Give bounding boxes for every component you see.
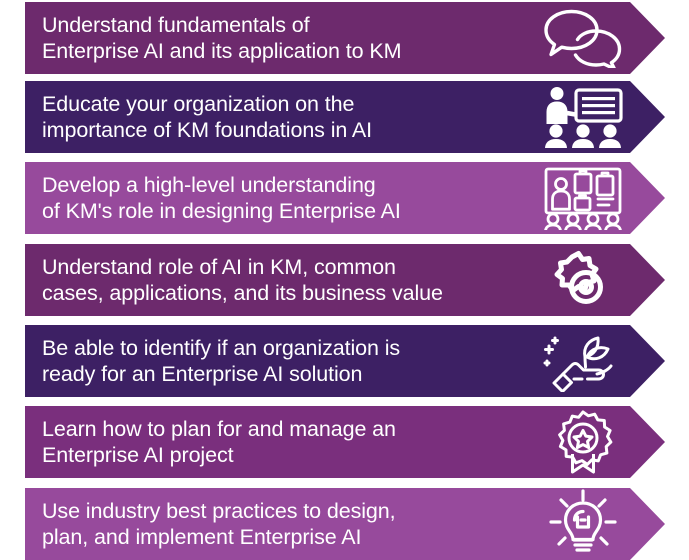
objective-text-3: Develop a high-level understanding of KM… (25, 172, 535, 224)
award-ribbon-icon (535, 408, 631, 476)
objective-text-1: Understand fundamentals of Enterprise AI… (25, 12, 535, 64)
objective-band-4[interactable]: Understand role of AI in KM, common case… (25, 244, 665, 316)
objective-text-5: Be able to identify if an organization i… (25, 335, 535, 387)
lightbulb-icon (535, 490, 631, 558)
objective-text-2: Educate your organization on the importa… (25, 91, 535, 143)
objective-text-7: Use industry best practices to design, p… (25, 498, 535, 550)
objectives-graphic: Understand fundamentals of Enterprise AI… (0, 0, 689, 560)
objective-text-4: Understand role of AI in KM, common case… (25, 254, 535, 306)
gears-icon (535, 246, 631, 314)
speech-bubbles-icon (535, 4, 631, 72)
objective-band-3[interactable]: Develop a high-level understanding of KM… (25, 162, 665, 234)
objective-band-2[interactable]: Educate your organization on the importa… (25, 81, 665, 153)
whiteboard-audience-icon (535, 164, 631, 232)
objective-band-5[interactable]: Be able to identify if an organization i… (25, 325, 665, 397)
objective-band-1[interactable]: Understand fundamentals of Enterprise AI… (25, 2, 665, 74)
presenter-audience-icon (535, 83, 631, 151)
objective-text-6: Learn how to plan for and manage an Ente… (25, 416, 535, 468)
objective-band-7[interactable]: Use industry best practices to design, p… (25, 488, 665, 560)
hand-sprout-icon (535, 327, 631, 395)
objective-band-6[interactable]: Learn how to plan for and manage an Ente… (25, 406, 665, 478)
